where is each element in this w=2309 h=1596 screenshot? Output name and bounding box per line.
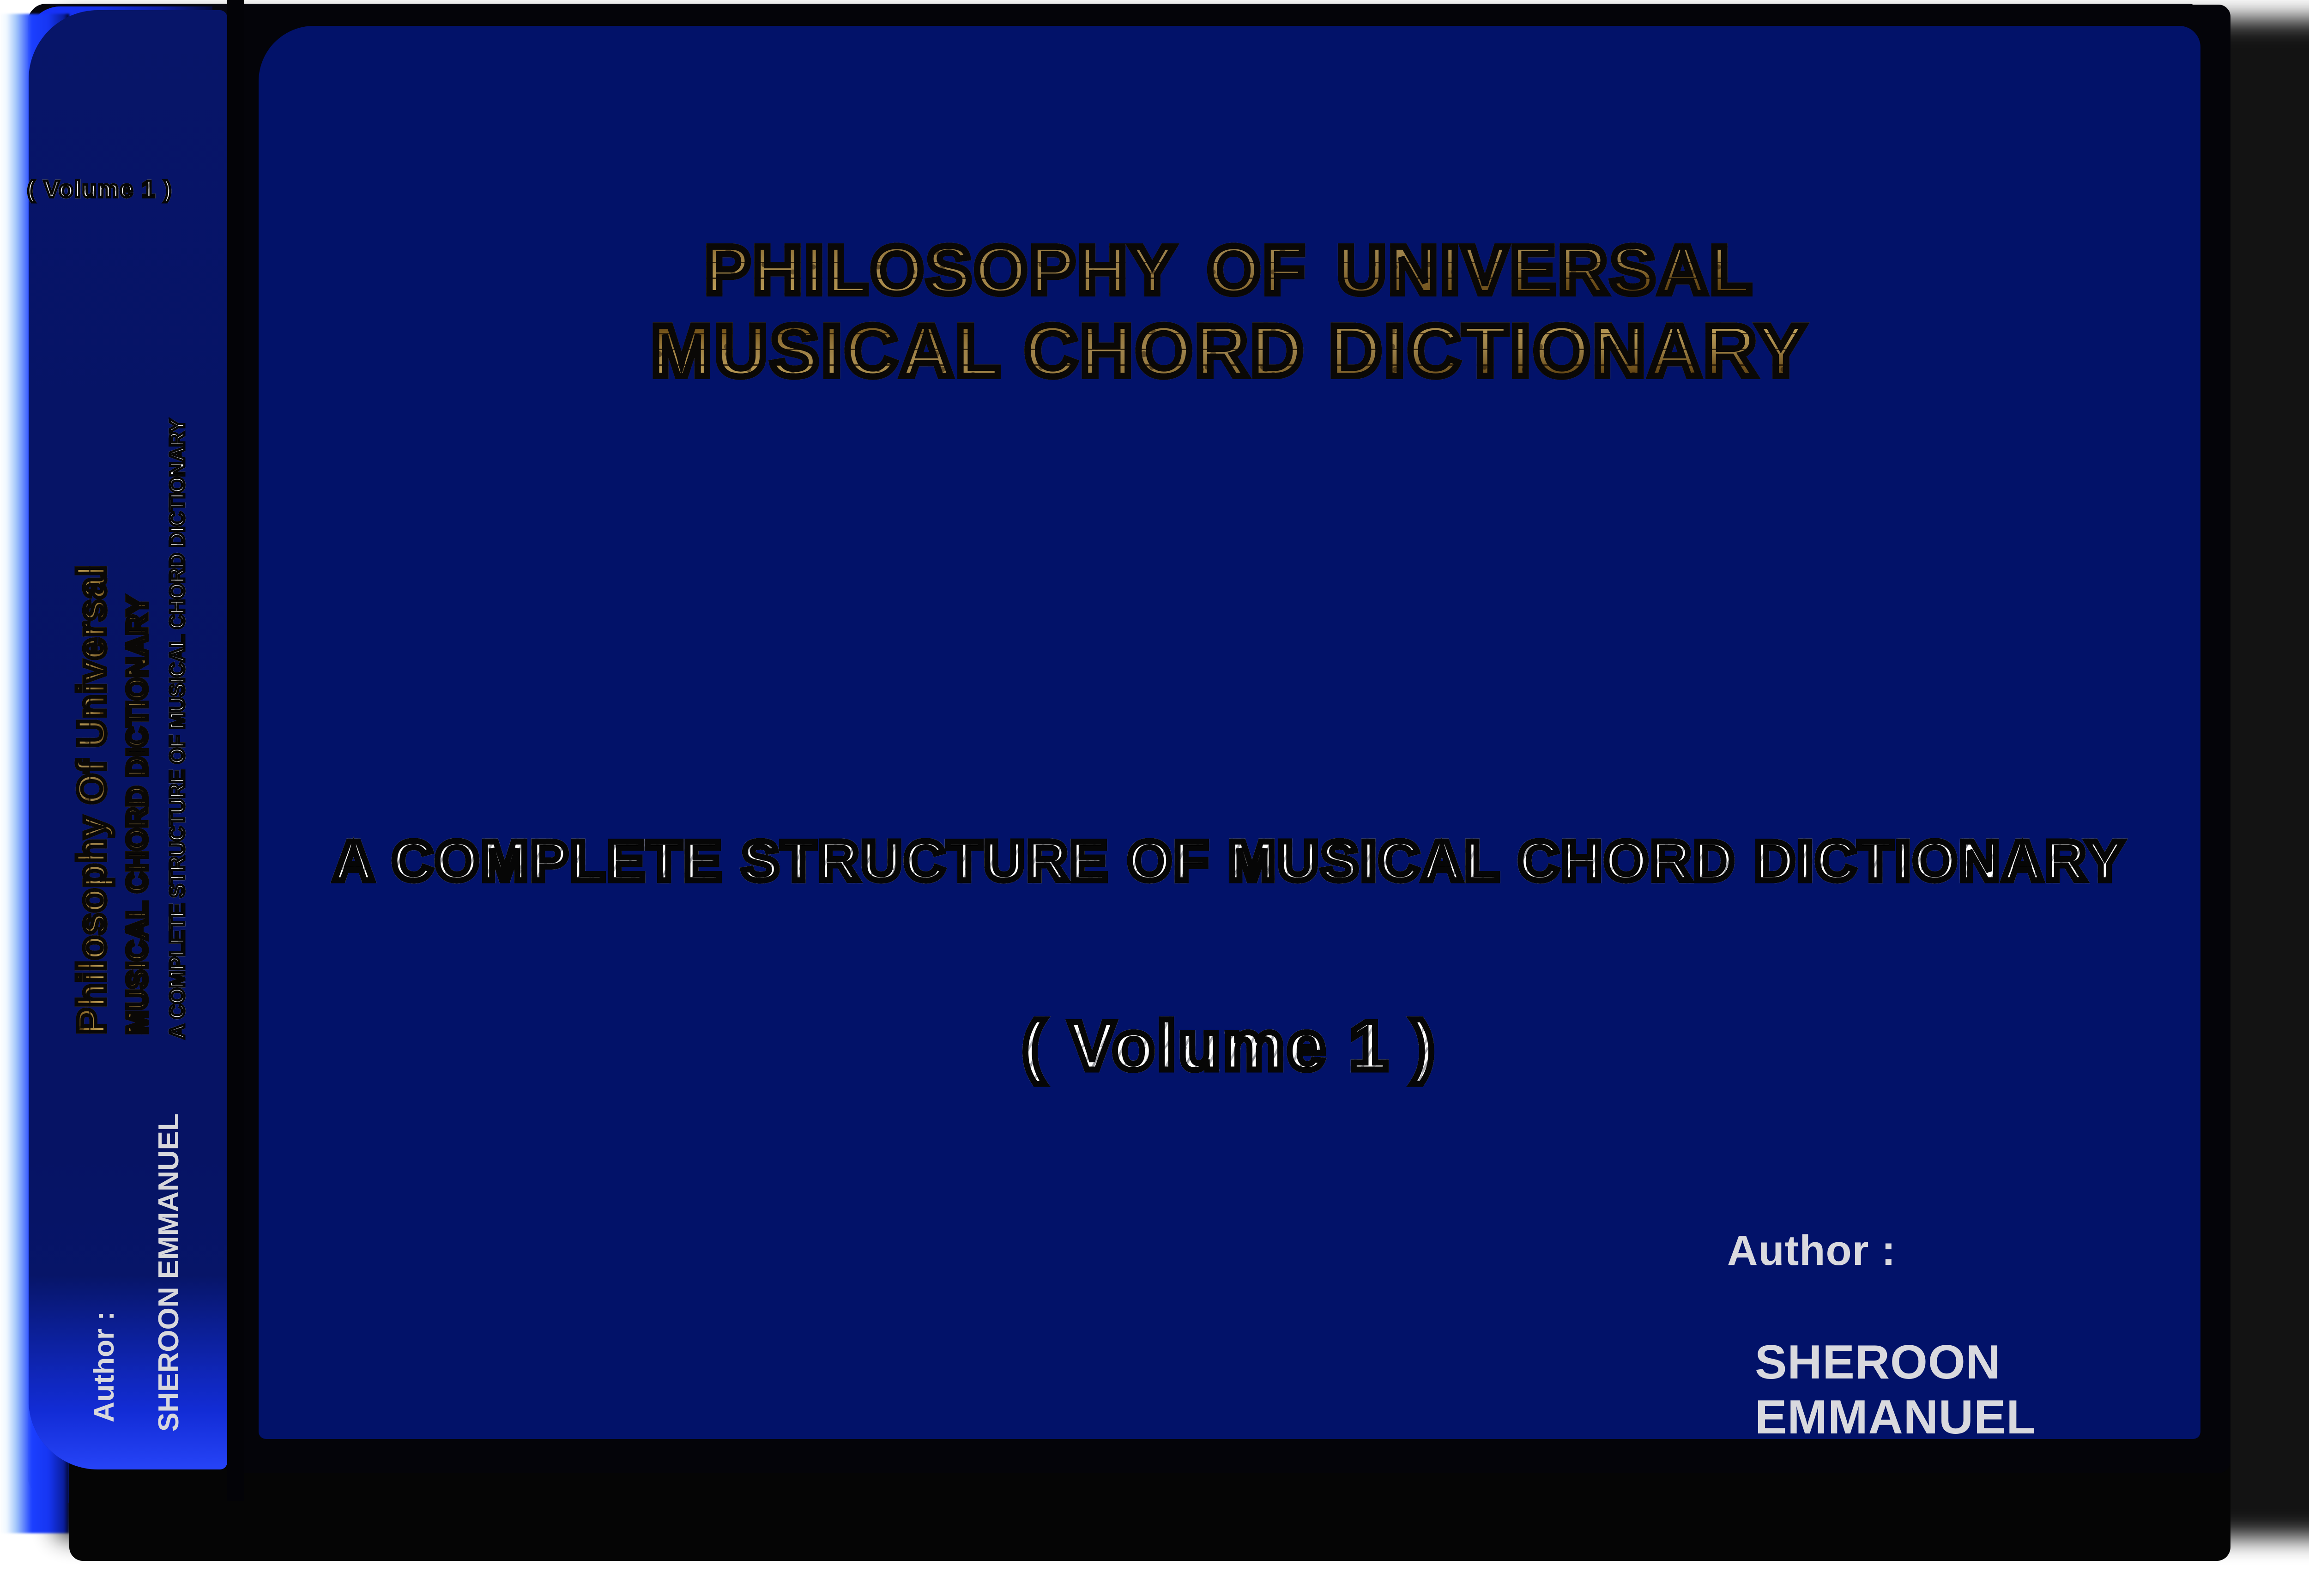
spine-volume-label: ( Volume 1 ) <box>17 175 183 203</box>
spine-subtitle: A COMPLETE STRUCTURE OF MUSICAL CHORD DI… <box>165 419 189 1039</box>
spine-title-sub: MUSICAL CHORD DICTIONARY <box>121 595 154 1034</box>
cover-title-line2: MUSICAL CHORD DICTIONARY <box>259 313 2200 390</box>
front-cover: Philosophy Of Universal MUSICAL CHORD DI… <box>259 26 2200 1439</box>
cover-author-name: SHEROON EMMANUEL <box>1755 1335 2200 1439</box>
cover-title-block: Philosophy Of Universal MUSICAL CHORD DI… <box>259 211 2200 390</box>
cover-title-line1: Philosophy Of Universal <box>259 211 2200 309</box>
spine-bottom-glow <box>29 1276 227 1469</box>
spine-cover-gutter <box>227 0 244 1501</box>
cover-volume-label: ( Volume 1 ) <box>259 1006 2200 1086</box>
spine-author-name: SHEROON EMMANUEL <box>152 1113 185 1432</box>
spine-author-label: Author : <box>88 1311 121 1422</box>
spine-title-main: Philosophy Of Universal <box>69 565 115 1034</box>
cover-author-label: Author : <box>1727 1227 2200 1275</box>
book-cover-canvas: ( Volume 1 ) Philosophy Of Universal MUS… <box>0 0 2309 1596</box>
cover-subtitle: A COMPLETE STRUCTURE OF MUSICAL CHORD DI… <box>259 828 2200 893</box>
cover-author-block: Author : SHEROON EMMANUEL <box>1727 1227 2200 1439</box>
